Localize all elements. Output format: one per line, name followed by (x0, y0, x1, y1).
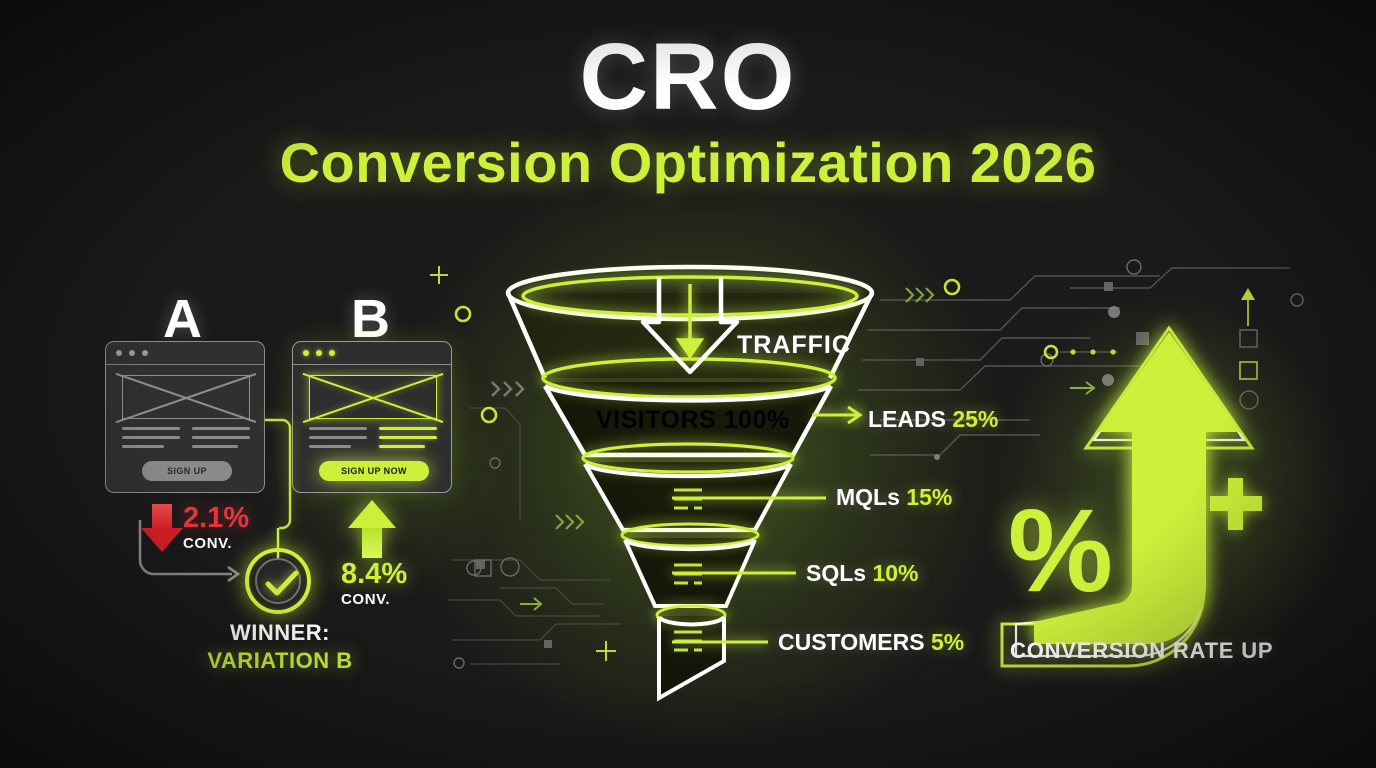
hero-image-placeholder (309, 375, 437, 419)
funnel-traffic-label: TRAFFIC (737, 331, 851, 360)
funnel-stage-customers (657, 606, 725, 698)
increase-arrow-icon (348, 500, 396, 558)
percent-symbol: % (1008, 492, 1113, 610)
window-dot-icon (142, 350, 148, 356)
window-dot-icon (116, 350, 122, 356)
window-dot-icon (303, 350, 309, 356)
funnel-label-leads: LEADS 25% (868, 406, 998, 433)
funnel-label-customers: CUSTOMERS 5% (778, 629, 964, 656)
decrease-arrow-icon (140, 504, 184, 556)
window-dot-icon (329, 350, 335, 356)
funnel-label-mqls: MQLs 15% (836, 484, 952, 511)
winner-callout: WINNER: VARIATION B (130, 620, 430, 674)
winner-label: WINNER: (130, 620, 430, 646)
funnel-glow (380, 200, 1020, 760)
variant-b-conversion-label: CONV. (341, 591, 407, 608)
text-placeholder-lines (309, 427, 437, 457)
variant-a-conversion: 2.1% CONV. (183, 504, 249, 552)
variant-b-mockup[interactable]: SIGN UP NOW (292, 341, 452, 493)
page-subtitle: Conversion Optimization 2026 (0, 132, 1376, 194)
funnel-label-sqls: SQLs 10% (806, 560, 919, 587)
variant-b-conversion: 8.4% CONV. (341, 560, 407, 608)
funnel-label-visitors: VISITORS 100% (596, 406, 790, 435)
window-dot-icon (129, 350, 135, 356)
plus-icon (1210, 478, 1262, 530)
check-icon (264, 569, 300, 599)
variant-a-conversion-label: CONV. (183, 535, 249, 552)
infographic-canvas: CRO Conversion Optimization 2026 A B SIG… (0, 0, 1376, 768)
browser-titlebar (293, 342, 451, 365)
variant-b-cta-button[interactable]: SIGN UP NOW (319, 461, 429, 481)
window-dot-icon (316, 350, 322, 356)
hero-image-placeholder (122, 375, 250, 419)
funnel-stage-mqls (583, 444, 793, 530)
browser-titlebar (106, 342, 264, 365)
funnel-stage-visitors (508, 267, 872, 378)
conversion-rate-up-caption: CONVERSION RATE UP (1010, 638, 1273, 664)
winner-check-badge (245, 548, 311, 614)
variant-a-mockup[interactable]: SIGN UP (105, 341, 265, 493)
text-placeholder-lines (122, 427, 250, 457)
variant-b-conversion-value: 8.4% (341, 560, 407, 589)
variant-a-conversion-value: 2.1% (183, 504, 249, 533)
page-title: CRO (0, 28, 1376, 128)
winner-value: VARIATION B (130, 648, 430, 674)
variant-a-cta-button[interactable]: SIGN UP (142, 461, 232, 481)
traffic-inflow-arrow-icon (643, 277, 737, 372)
funnel-stage-sqls (622, 524, 758, 606)
header: CRO Conversion Optimization 2026 (0, 28, 1376, 193)
